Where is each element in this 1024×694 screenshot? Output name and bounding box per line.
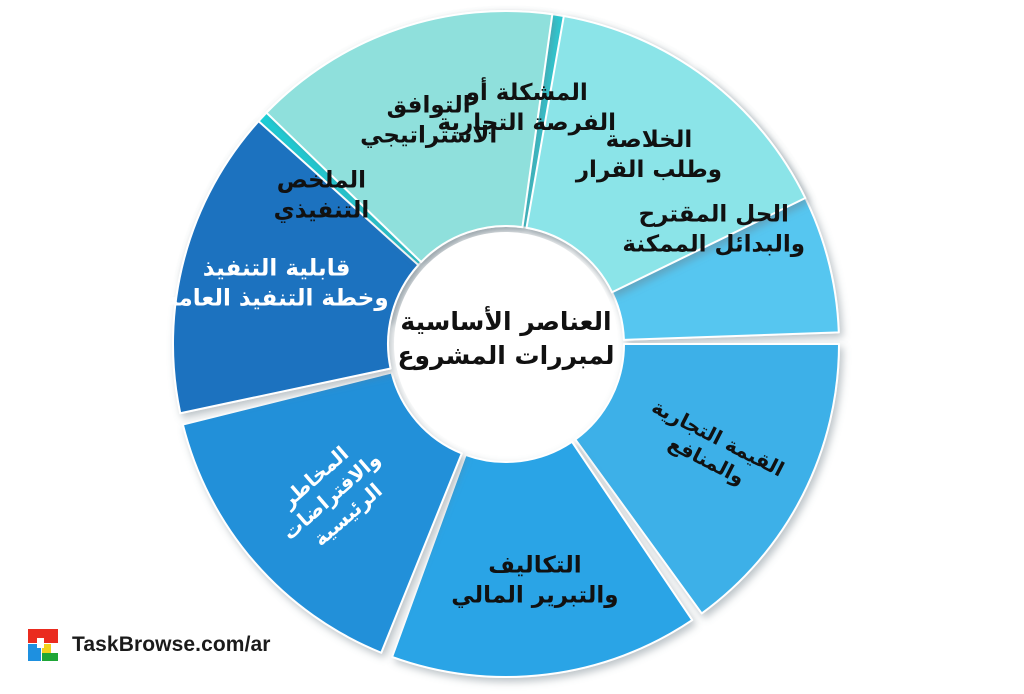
- segment-label-line: المشكلة أو: [465, 76, 588, 106]
- segment-label-line: قابلية التنفيذ: [203, 255, 351, 281]
- segment-label-line: التكاليف: [488, 553, 581, 579]
- segment-wheel: الملخصالتنفيذيالمشكلة أوالفرصة التجاريةا…: [156, 0, 856, 694]
- wheel-svg: الملخصالتنفيذيالمشكلة أوالفرصة التجاريةا…: [156, 0, 856, 694]
- hub-title-line1: العناصر الأساسية: [400, 306, 611, 337]
- hub-title-line2: لمبررات المشروع: [397, 341, 614, 371]
- site-label: TaskBrowse.com/ar: [72, 633, 271, 657]
- segment-label-line: وخطة التنفيذ العامة: [165, 285, 389, 311]
- segment-label-line: الخلاصة: [606, 127, 693, 153]
- taskbrowse-logo-icon: [28, 629, 58, 661]
- segment-label-line: الملخص: [277, 167, 366, 193]
- segment-label-line: التنفيذي: [274, 197, 370, 223]
- logo-notch: [37, 638, 44, 648]
- segment-label-line: الاستراتيجي: [360, 122, 497, 148]
- segment-label-line: والبدائل الممكنة: [622, 232, 805, 258]
- logo-bottom-right: [42, 653, 58, 661]
- segment-label-line: والتبرير المالي: [451, 583, 618, 609]
- segment-label-line: الحل المقترح: [639, 202, 789, 228]
- segment-label-line: وطلب القرار: [575, 157, 722, 183]
- infographic-page: الملخصالتنفيذيالمشكلة أوالفرصة التجاريةا…: [0, 0, 1024, 683]
- segment-label-line: التوافق: [387, 92, 471, 118]
- footer: TaskBrowse.com/ar: [28, 629, 271, 661]
